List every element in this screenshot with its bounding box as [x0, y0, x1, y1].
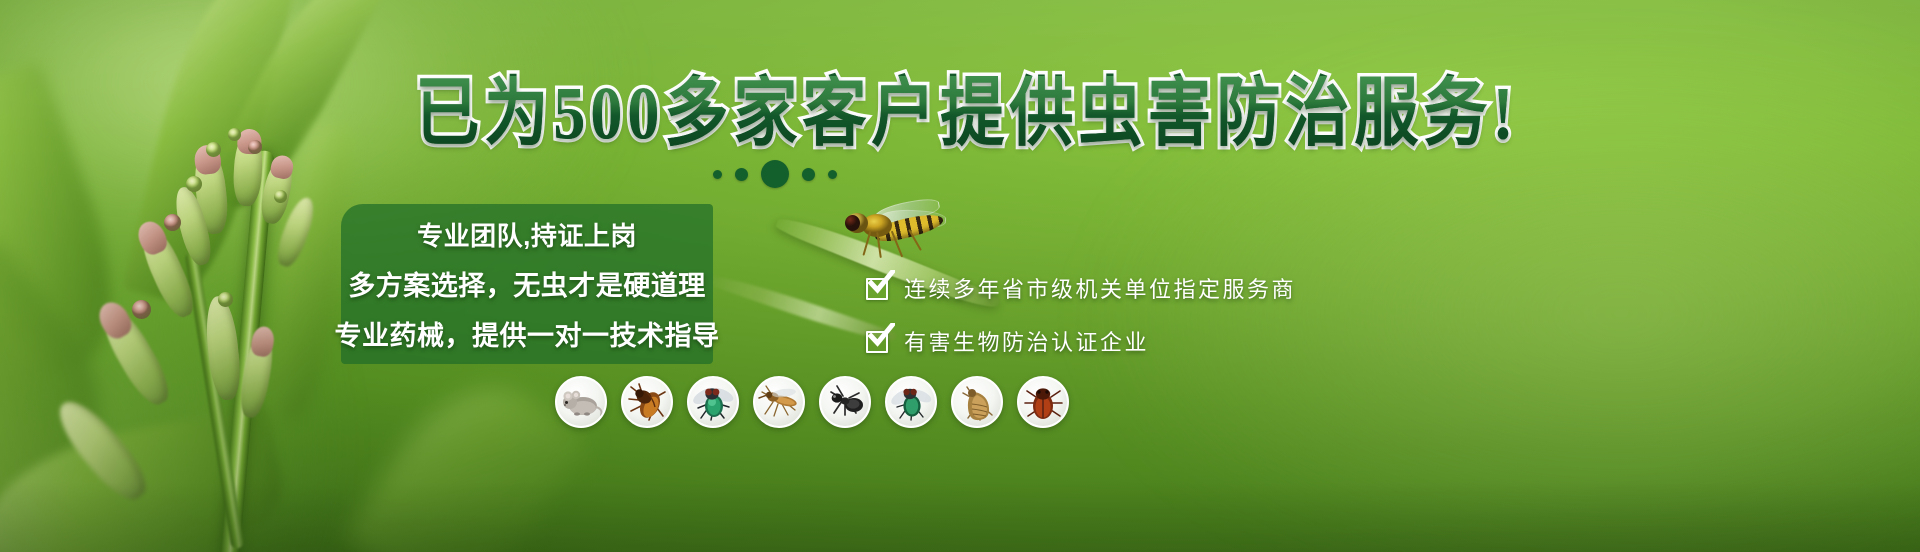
decorative-dot-row: [713, 160, 837, 188]
pest-circle-flea[interactable]: [951, 376, 1003, 428]
selling-points-box: 专业团队,持证上岗 多方案选择，无虫才是硬道理 专业药械，提供一对一技术指导: [341, 204, 713, 364]
pest-circle-cockroach[interactable]: [621, 376, 673, 428]
selling-point-line-2: 多方案选择，无虫才是硬道理: [348, 260, 706, 307]
checkmark-glyph: [868, 323, 895, 348]
checklist-item-label: 有害生物防治认证企业: [904, 325, 1149, 357]
pest-circle-ant[interactable]: [819, 376, 871, 428]
checkbox-checked-icon: [866, 329, 891, 354]
selling-point-line-1: 专业团队,持证上岗: [417, 210, 637, 257]
promo-banner: 已为500多家客户提供虫害防治服务! 已为500多家客户提供虫害防治服务! 专业…: [0, 0, 1920, 552]
selling-point-line-3: 专业药械，提供一对一技术指导: [335, 310, 720, 359]
green-fly-icon: [889, 380, 933, 424]
decor-dot-medium: [802, 168, 815, 181]
pest-circle-bluebottle-fly[interactable]: [687, 376, 739, 428]
decor-dot-medium: [735, 168, 748, 181]
decor-dot-small: [828, 170, 837, 179]
flea-icon: [955, 380, 999, 424]
bedbug-icon: [1021, 380, 1065, 424]
decor-dot-large: [761, 160, 789, 188]
banner-headline: 已为500多家客户提供虫害防治服务!: [0, 76, 1920, 152]
checklist-item: 连续多年省市级机关单位指定服务商: [866, 272, 1296, 304]
mosquito-icon: [757, 380, 801, 424]
checkmark-glyph: [868, 270, 895, 295]
pest-circle-bedbug[interactable]: [1017, 376, 1069, 428]
cockroach-icon: [625, 380, 669, 424]
pest-circle-green-fly[interactable]: [885, 376, 937, 428]
checklist-item-label: 连续多年省市级机关单位指定服务商: [904, 272, 1296, 304]
mouse-icon: [559, 380, 603, 424]
checkbox-checked-icon: [866, 276, 891, 301]
ant-icon: [823, 380, 867, 424]
pest-types-row: [555, 376, 1069, 428]
pest-circle-mosquito[interactable]: [753, 376, 805, 428]
pest-circle-mouse[interactable]: [555, 376, 607, 428]
checklist-item: 有害生物防治认证企业: [866, 325, 1296, 357]
bluebottle-fly-icon: [691, 380, 735, 424]
decor-dot-small: [713, 170, 722, 179]
credentials-checklist: 连续多年省市级机关单位指定服务商 有害生物防治认证企业: [866, 272, 1296, 357]
